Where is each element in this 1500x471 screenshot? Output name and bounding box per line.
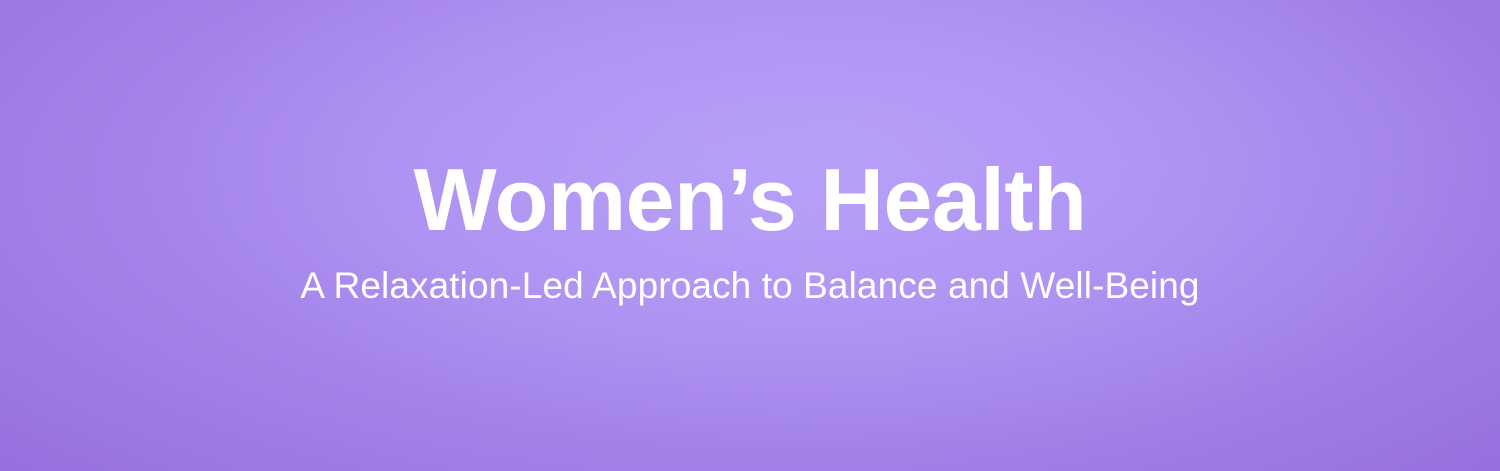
page-title: Women’s Health <box>414 156 1087 244</box>
banner-content: Women’s Health A Relaxation-Led Approach… <box>0 0 1500 471</box>
page-subtitle: A Relaxation-Led Approach to Balance and… <box>300 266 1199 307</box>
hero-banner: Women’s Health A Relaxation-Led Approach… <box>0 0 1500 471</box>
